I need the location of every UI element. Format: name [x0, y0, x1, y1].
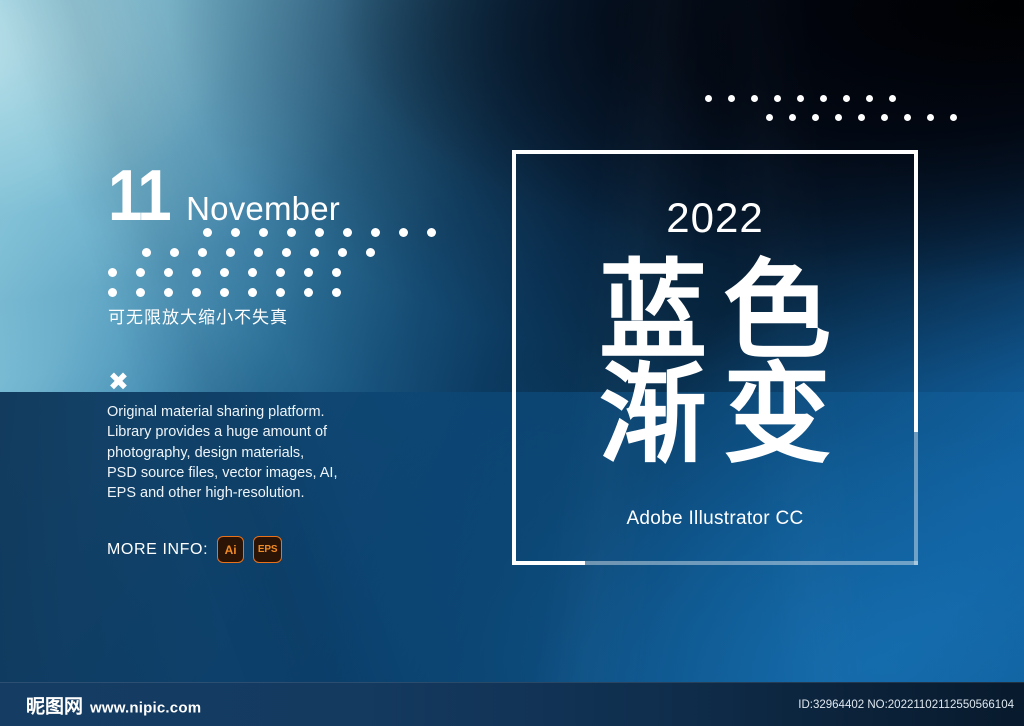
dot: [276, 288, 285, 297]
image-id-text: ID:32964402 NO:20221102112550566104: [798, 699, 1014, 711]
description-line: PSD source files, vector images, AI,: [107, 463, 407, 483]
dot: [254, 248, 263, 257]
dot: [136, 268, 145, 277]
poster-canvas: 11 November: [0, 0, 1024, 726]
dot: [366, 248, 375, 257]
dot: [248, 288, 257, 297]
description-line: photography, design materials,: [107, 443, 407, 463]
dot: [259, 228, 268, 237]
site-branding[interactable]: 昵图网 www.nipic.com: [26, 691, 201, 718]
dot: [226, 248, 235, 257]
dot: [774, 95, 781, 102]
dot: [812, 114, 819, 121]
chinese-tagline: 可无限放大缩小不失真: [108, 303, 288, 328]
headline: 蓝色 渐变: [512, 260, 918, 468]
dot: [843, 95, 850, 102]
dot: [728, 95, 735, 102]
top-right-dot-cluster: [705, 95, 973, 121]
brand-url: www.nipic.com: [90, 699, 201, 716]
format-badge-ai[interactable]: Ai: [217, 536, 244, 563]
dot: [142, 248, 151, 257]
dot: [220, 268, 229, 277]
dot-row: [108, 282, 455, 302]
dot: [276, 268, 285, 277]
dot: [315, 228, 324, 237]
dot: [881, 114, 888, 121]
dot: [192, 288, 201, 297]
dot: [203, 228, 212, 237]
date-month-name: November: [186, 192, 340, 225]
dot-row: [203, 222, 455, 242]
frame-border-bottom-faded: [585, 561, 918, 565]
description-line: Original material sharing platform.: [107, 402, 407, 422]
dot-row: [705, 95, 973, 102]
dot: [343, 228, 352, 237]
dot: [170, 248, 179, 257]
headline-line-2: 渐变: [512, 364, 918, 468]
dot: [927, 114, 934, 121]
dot: [304, 288, 313, 297]
dot: [192, 268, 201, 277]
dot: [164, 268, 173, 277]
dot: [751, 95, 758, 102]
dot: [332, 288, 341, 297]
more-info-row: MORE INFO: Ai EPS: [107, 536, 282, 563]
dot: [399, 228, 408, 237]
dot: [108, 288, 117, 297]
dot: [866, 95, 873, 102]
dot-row: [108, 262, 455, 282]
dot: [248, 268, 257, 277]
format-badge-eps[interactable]: EPS: [253, 536, 282, 563]
dot: [820, 95, 827, 102]
dot: [136, 288, 145, 297]
dot: [108, 268, 117, 277]
description-line: EPS and other high-resolution.: [107, 483, 407, 503]
dot: [889, 95, 896, 102]
dot: [705, 95, 712, 102]
title-frame: 2022 蓝色 渐变 Adobe Illustrator CC: [512, 150, 918, 565]
dot-row: [142, 242, 455, 262]
dot: [789, 114, 796, 121]
more-info-label: MORE INFO:: [107, 541, 208, 559]
dot: [371, 228, 380, 237]
cross-mark-icon: ✖: [108, 370, 132, 394]
dot: [231, 228, 240, 237]
footer-bar: 昵图网 www.nipic.com ID:32964402 NO:2022110…: [0, 682, 1024, 726]
frame-border-bottom-solid: [512, 561, 585, 565]
dot: [282, 248, 291, 257]
brand-name-cn: 昵图网: [26, 691, 83, 718]
dot: [950, 114, 957, 121]
year-label: 2022: [512, 194, 918, 242]
dot: [332, 268, 341, 277]
dot: [766, 114, 773, 121]
headline-line-1: 蓝色: [512, 260, 918, 364]
dot: [427, 228, 436, 237]
dot: [835, 114, 842, 121]
dot-row: [766, 114, 973, 121]
left-dot-grid: [108, 222, 455, 302]
dot: [338, 248, 347, 257]
software-label: Adobe Illustrator CC: [512, 508, 918, 530]
dot: [310, 248, 319, 257]
description-line: Library provides a huge amount of: [107, 422, 407, 442]
dot: [904, 114, 911, 121]
dot: [304, 268, 313, 277]
dot: [164, 288, 173, 297]
dot: [198, 248, 207, 257]
frame-border-top: [512, 150, 918, 154]
dot: [287, 228, 296, 237]
dot: [220, 288, 229, 297]
dot: [797, 95, 804, 102]
dot: [858, 114, 865, 121]
description-block: Original material sharing platform. Libr…: [107, 402, 407, 503]
